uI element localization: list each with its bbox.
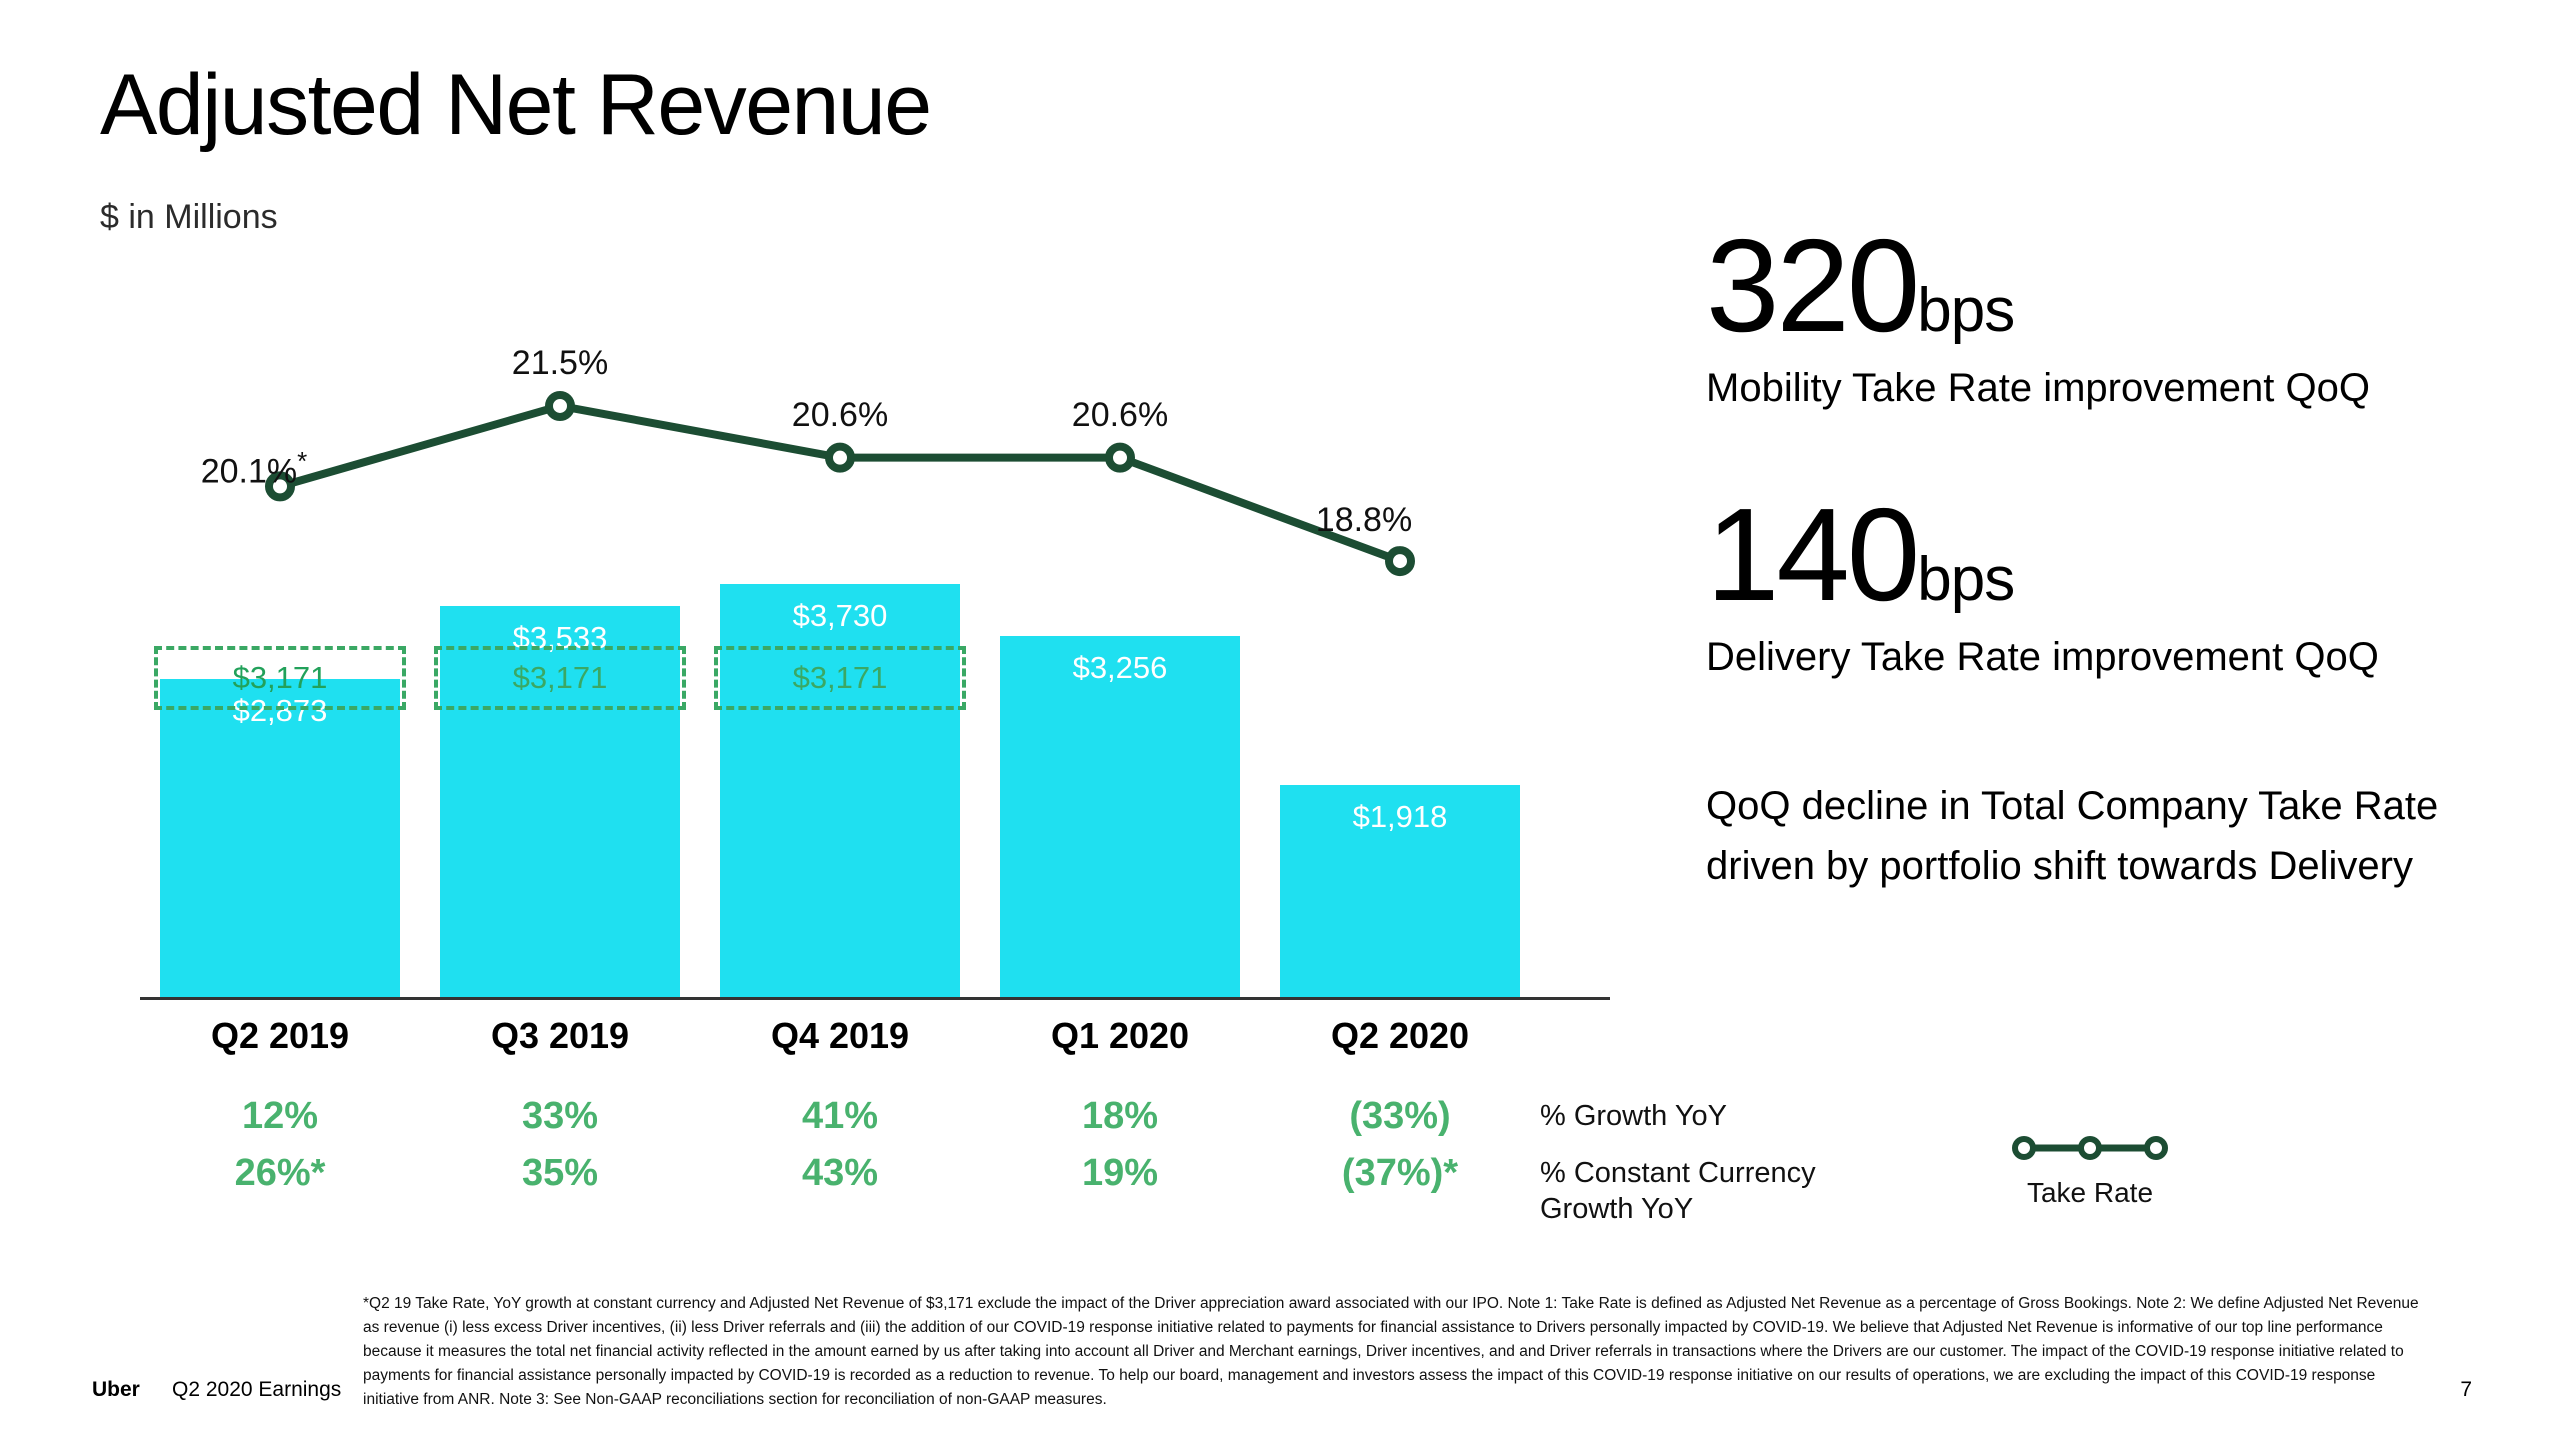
- take-rate-point: [1389, 550, 1411, 572]
- highlight-stat-delivery: 140bps Delivery Take Rate improvement Qo…: [1706, 489, 2526, 680]
- commentary-text: QoQ decline in Total Company Take Rate d…: [1706, 776, 2496, 896]
- chart-legend: Take Rate: [1940, 1135, 2240, 1209]
- bar-value-label: $1,918: [1280, 799, 1520, 835]
- chart-plot-area: $2,873$3,533$3,730$3,256$1,918$3,171$3,1…: [70, 300, 1540, 1000]
- growth-row-yoy: 12%33%41%18%(33%): [70, 1095, 1540, 1155]
- growth-row-label-line1: % Constant Currency: [1540, 1155, 1816, 1191]
- highlight-stat-mobility: 320bps Mobility Take Rate improvement Qo…: [1706, 220, 2526, 411]
- take-rate-value-label: 21.5%: [430, 344, 690, 383]
- highlight-number-mobility: 320: [1706, 220, 1917, 352]
- highlight-unit-mobility: bps: [1917, 275, 2014, 346]
- x-axis-label-q4-2019: Q4 2019: [690, 1015, 990, 1057]
- highlights-panel: 320bps Mobility Take Rate improvement Qo…: [1706, 220, 2526, 896]
- growth-value: (33%): [1250, 1095, 1550, 1138]
- page-title: Adjusted Net Revenue: [100, 62, 931, 148]
- growth-row-constant-currency-label: % Constant CurrencyGrowth YoY: [1540, 1155, 1816, 1228]
- growth-value: 19%: [970, 1152, 1270, 1195]
- take-rate-value-label: 20.6%: [990, 396, 1250, 435]
- growth-value: 12%: [130, 1095, 430, 1138]
- dashed-reference-label: $3,171: [158, 660, 402, 696]
- highlight-number-delivery: 140: [1706, 489, 1917, 621]
- dashed-reference-box: $3,171: [714, 646, 966, 710]
- highlight-desc-delivery: Delivery Take Rate improvement QoQ: [1706, 635, 2526, 680]
- take-rate-point: [1109, 447, 1131, 469]
- take-rate-value-label: 18.8%: [1234, 501, 1494, 540]
- growth-row-yoy-label: % Growth YoY: [1540, 1098, 1727, 1134]
- growth-value: 35%: [410, 1152, 710, 1195]
- bar-value-label: $3,730: [720, 598, 960, 634]
- growth-value: 33%: [410, 1095, 710, 1138]
- x-axis-label-q2-2019: Q2 2019: [130, 1015, 430, 1057]
- take-rate-point: [549, 395, 571, 417]
- x-axis-label-q3-2019: Q3 2019: [410, 1015, 710, 1057]
- growth-value: (37%)*: [1250, 1152, 1550, 1195]
- bar-q2-2019: $2,873: [160, 679, 400, 997]
- take-rate-point: [829, 447, 851, 469]
- highlight-desc-mobility: Mobility Take Rate improvement QoQ: [1706, 366, 2526, 411]
- bar-value-label: $3,256: [1000, 650, 1240, 686]
- footnote-text: *Q2 19 Take Rate, YoY growth at constant…: [363, 1292, 2423, 1412]
- growth-row-constant-currency: 26%*35%43%19%(37%)*: [70, 1152, 1540, 1212]
- footer-brand: Uber: [92, 1378, 140, 1402]
- x-axis-labels: Q2 2019Q3 2019Q4 2019Q1 2020Q2 2020: [70, 1015, 1540, 1075]
- page-subtitle: $ in Millions: [100, 198, 278, 237]
- bar-q2-2020: $1,918: [1280, 785, 1520, 997]
- x-axis-line: [140, 997, 1610, 1000]
- growth-value: 26%*: [130, 1152, 430, 1195]
- x-axis-label-q2-2020: Q2 2020: [1250, 1015, 1550, 1057]
- dashed-reference-box: $3,171: [154, 646, 406, 710]
- dashed-reference-label: $3,171: [718, 660, 962, 696]
- slide: Adjusted Net Revenue $ in Millions $2,87…: [0, 0, 2560, 1440]
- growth-value: 41%: [690, 1095, 990, 1138]
- dashed-reference-label: $3,171: [438, 660, 682, 696]
- take-rate-value-label: 20.1%*: [124, 446, 384, 491]
- growth-value: 43%: [690, 1152, 990, 1195]
- dashed-reference-box: $3,171: [434, 646, 686, 710]
- growth-row-label-line2: Growth YoY: [1540, 1191, 1816, 1227]
- highlight-unit-delivery: bps: [1917, 544, 2014, 615]
- footer-deck-name: Q2 2020 Earnings: [172, 1378, 341, 1402]
- growth-value: 18%: [970, 1095, 1270, 1138]
- take-rate-legend-icon: [2010, 1135, 2170, 1161]
- x-axis-label-q1-2020: Q1 2020: [970, 1015, 1270, 1057]
- page-number: 7: [2460, 1378, 2472, 1402]
- revenue-chart: $2,873$3,533$3,730$3,256$1,918$3,171$3,1…: [70, 300, 1540, 1000]
- bar-q1-2020: $3,256: [1000, 636, 1240, 997]
- take-rate-value-label: 20.6%: [710, 396, 970, 435]
- legend-label-take-rate: Take Rate: [1940, 1177, 2240, 1209]
